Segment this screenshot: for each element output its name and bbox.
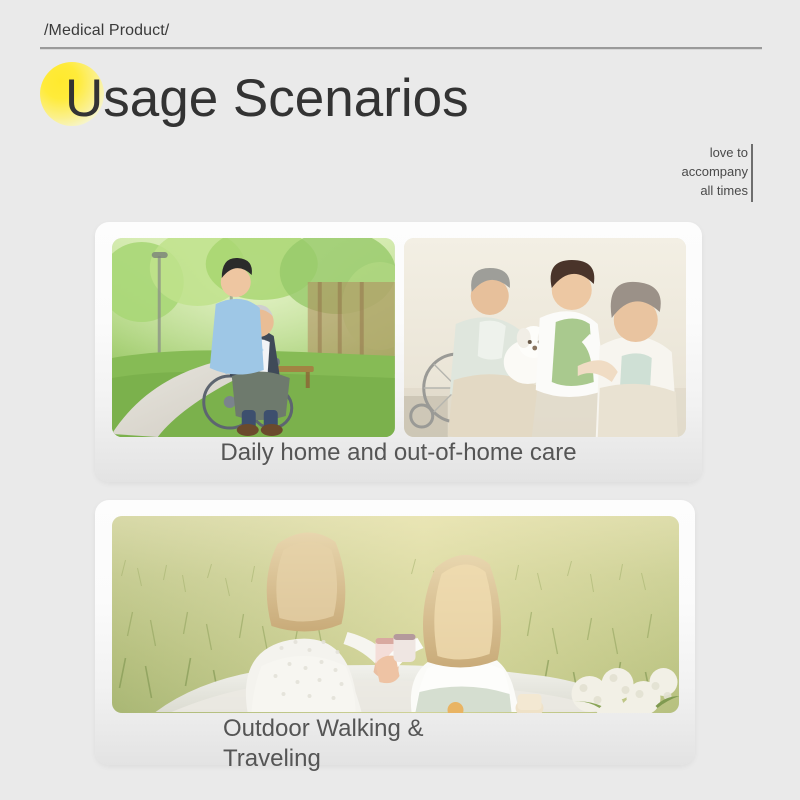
tagline-line-2: accompany xyxy=(628,162,748,181)
tagline-line-1: love to xyxy=(628,143,748,162)
breadcrumb: /Medical Product/ xyxy=(44,22,169,40)
photo-family-with-dog-indoors xyxy=(404,238,687,437)
scenario-card-daily-care[interactable]: Daily home and out-of-home care xyxy=(95,222,702,482)
slide-root: /Medical Product/ Usage Scenarios love t… xyxy=(0,0,800,800)
tagline: love to accompany all times xyxy=(628,143,748,200)
photo-caregiver-pushing-wheelchair-in-park xyxy=(112,238,395,437)
photo-row xyxy=(112,516,679,713)
header-divider xyxy=(40,47,762,50)
tagline-line-3: all times xyxy=(628,181,748,200)
scenario-card-outdoor-traveling[interactable]: Outdoor Walking & Traveling xyxy=(95,500,695,765)
photo-two-women-picnic-in-field xyxy=(112,516,679,713)
page-title: Usage Scenarios xyxy=(65,60,469,138)
card-caption: Daily home and out-of-home care xyxy=(95,438,702,468)
card-caption: Outdoor Walking & Traveling xyxy=(223,714,643,774)
photo-row xyxy=(112,238,686,437)
tagline-vertical-divider xyxy=(751,144,753,202)
